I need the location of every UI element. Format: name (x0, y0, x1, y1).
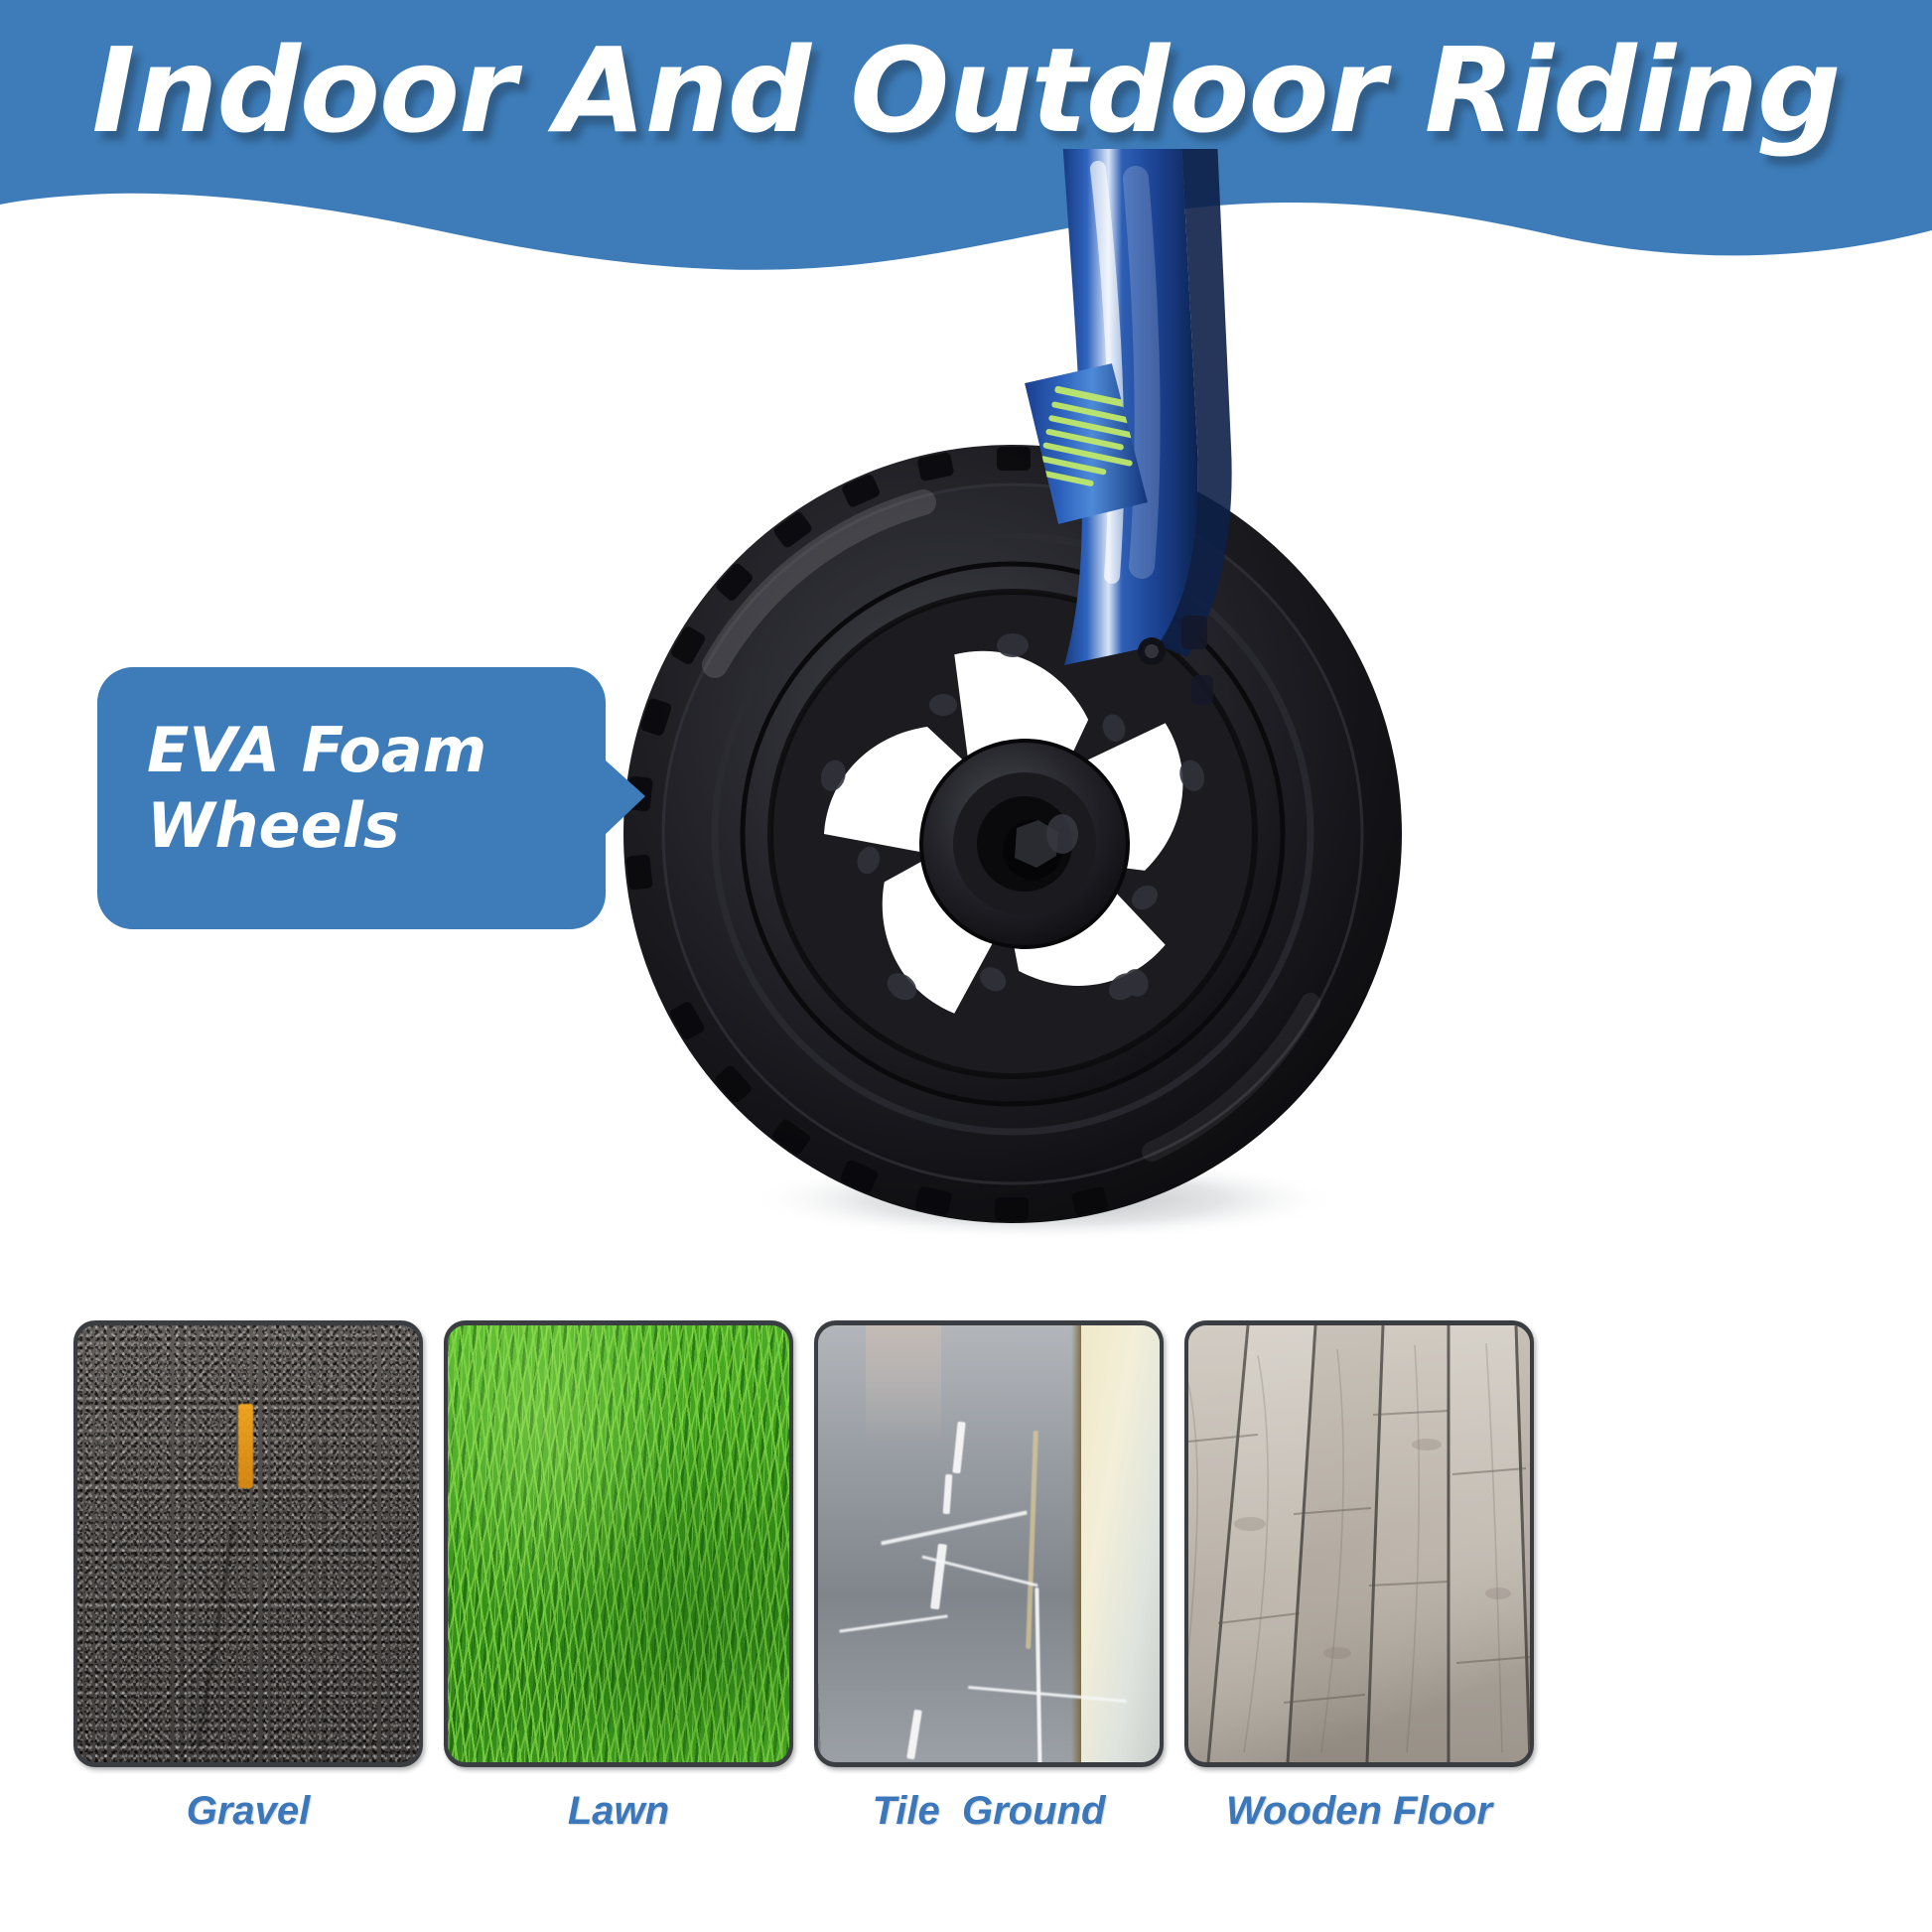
surface-card-gravel[interactable]: Gravel (73, 1320, 423, 1767)
wooden-floor-image (1188, 1325, 1530, 1762)
surface-label-lawn: Lawn (404, 1789, 833, 1834)
lawn-image (448, 1325, 789, 1762)
eva-foam-wheels-callout: EVA Foam Wheels (97, 667, 649, 929)
surface-label-wooden-floor: Wooden Floor (1145, 1789, 1574, 1834)
surface-thumbnail-row: Gravel Lawn (0, 1320, 1932, 1932)
thumbnail-frame (73, 1320, 423, 1767)
promo-image: Indoor And Outdoor Riding (0, 0, 1932, 1932)
gravel-image (77, 1325, 419, 1762)
callout-line-1: EVA Foam (147, 713, 584, 788)
surface-card-tile-ground[interactable]: Tile Ground (814, 1320, 1164, 1767)
page-title: Indoor And Outdoor Riding (0, 22, 1932, 159)
tile-ground-image (818, 1325, 1160, 1762)
surface-card-wooden-floor[interactable]: Wooden Floor (1184, 1320, 1534, 1767)
callout-text: EVA Foam Wheels (147, 713, 584, 863)
callout-line-2: Wheels (147, 788, 584, 864)
thumbnail-frame (1184, 1320, 1534, 1767)
thumbnail-frame (814, 1320, 1164, 1767)
surface-label-gravel: Gravel (34, 1789, 463, 1834)
wheel-hub (921, 741, 1128, 947)
thumbnail-frame (444, 1320, 793, 1767)
surface-card-lawn[interactable]: Lawn (444, 1320, 793, 1767)
product-photo-wheel (596, 149, 1489, 1261)
road-marking (238, 1404, 253, 1488)
surface-label-tile-ground: Tile Ground (774, 1789, 1203, 1834)
